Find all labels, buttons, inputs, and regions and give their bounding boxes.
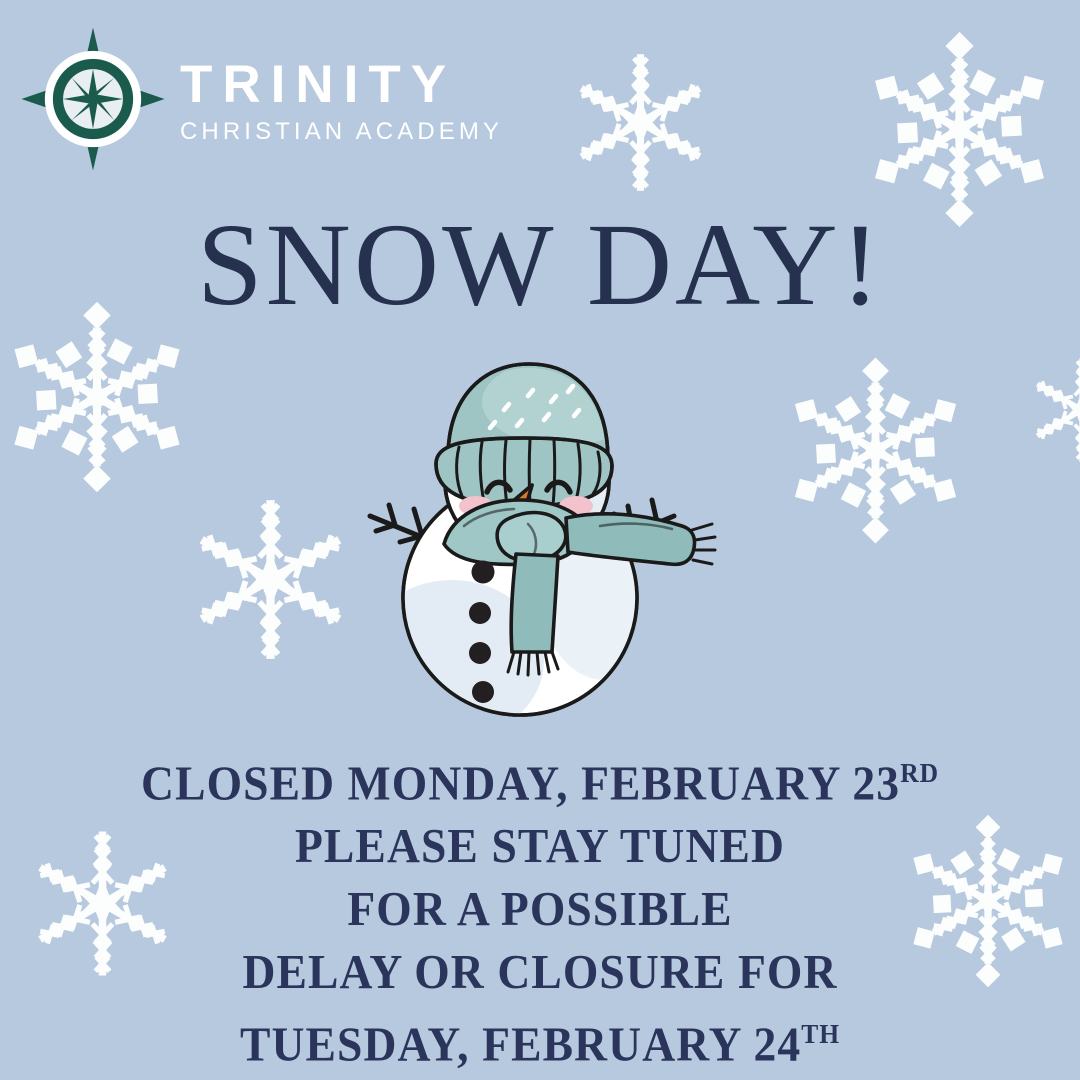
page-title: SNOW DAY!: [0, 206, 1080, 324]
logo-name: TRINITY: [180, 58, 503, 111]
snowflake-left-mid-icon: [163, 472, 378, 687]
message-line: FOR A POSSIBLE: [38, 877, 1042, 940]
message-line: DELAY OR CLOSURE FOR: [38, 940, 1042, 1003]
ordinal-suffix: TH: [801, 1019, 840, 1049]
logo-subtitle: CHRISTIAN ACADEMY: [180, 120, 503, 144]
message-line: PLEASE STAY TUNED: [38, 814, 1042, 877]
snow-day-poster: TRINITY CHRISTIAN ACADEMY SNOW DAY!: [0, 0, 1080, 1080]
school-logo: TRINITY CHRISTIAN ACADEMY: [20, 26, 503, 172]
snowflake-right-edge-icon: [1012, 340, 1080, 480]
snowflake-top-center-icon: [548, 30, 733, 215]
compass-rose-icon: [20, 26, 166, 172]
ordinal-suffix: RD: [900, 758, 939, 788]
message-line: TUESDAY, FEBRUARY 24TH: [38, 1003, 1042, 1075]
snowman-illustration: [352, 330, 744, 730]
message-line: CLOSED MONDAY, FEBRUARY 23RD: [38, 742, 1042, 814]
logo-wordmark: TRINITY CHRISTIAN ACADEMY: [180, 54, 503, 144]
snowflake-right-mid-icon: [773, 348, 978, 553]
snowflake-top-right-icon: [852, 22, 1067, 237]
announcement-message: CLOSED MONDAY, FEBRUARY 23RDPLEASE STAY …: [0, 742, 1080, 1076]
